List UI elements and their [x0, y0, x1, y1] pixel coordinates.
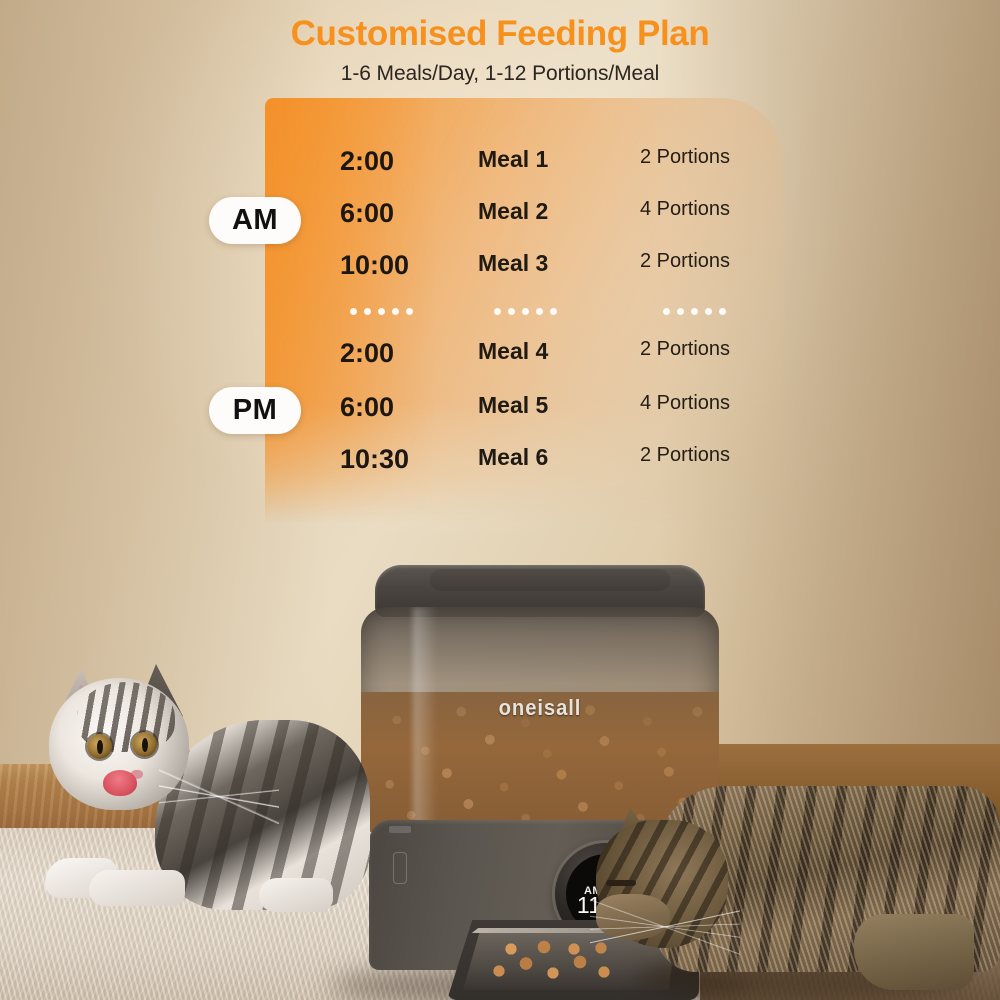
feeding-schedule: 2:00 Meal 1 2 Portions 6:00 Meal 2 4 Por…	[0, 0, 1000, 560]
feeder-lid-inset	[430, 569, 670, 591]
separator-dots-meal	[494, 308, 557, 315]
row-meal: Meal 5	[478, 392, 638, 419]
separator-dots-time	[350, 308, 413, 315]
row-time: 6:00	[340, 198, 470, 229]
cat-left-hind-paw	[259, 878, 333, 912]
row-portions: 2 Portions	[640, 250, 840, 273]
pm-period-badge: PM	[209, 387, 301, 434]
cat-right-whiskers	[590, 882, 740, 970]
feeder-side-latch[interactable]	[393, 852, 407, 884]
row-time: 2:00	[340, 146, 470, 177]
am-period-badge: AM	[209, 197, 301, 244]
schedule-row: 6:00 Meal 5 4 Portions	[0, 392, 1000, 434]
cat-left-pupil-right	[142, 738, 148, 752]
schedule-row: 2:00 Meal 4 2 Portions	[0, 338, 1000, 380]
row-time: 2:00	[340, 338, 470, 369]
row-time: 10:00	[340, 250, 470, 281]
row-meal: Meal 2	[478, 198, 638, 225]
product-scene: Customised Feeding Plan 1-6 Meals/Day, 1…	[0, 0, 1000, 1000]
schedule-row: 6:00 Meal 2 4 Portions	[0, 198, 1000, 240]
row-portions: 2 Portions	[640, 146, 840, 169]
schedule-row: 2:00 Meal 1 2 Portions	[0, 146, 1000, 188]
row-meal: Meal 6	[478, 444, 638, 471]
row-time: 6:00	[340, 392, 470, 423]
row-meal: Meal 4	[478, 338, 638, 365]
row-meal: Meal 1	[478, 146, 638, 173]
cat-left-whiskers	[159, 768, 279, 824]
schedule-row: 10:30 Meal 6 2 Portions	[0, 444, 1000, 486]
brand-logo: oneisall	[375, 695, 704, 721]
row-portions: 2 Portions	[640, 444, 840, 467]
row-portions: 4 Portions	[640, 392, 840, 415]
row-portions: 4 Portions	[640, 198, 840, 221]
cat-left-front-paw-2	[89, 870, 185, 906]
cat-right-leg	[854, 914, 974, 990]
row-time: 10:30	[340, 444, 470, 475]
row-portions: 2 Portions	[640, 338, 840, 361]
cat-right	[596, 786, 1000, 1000]
feeder-vent	[389, 826, 411, 833]
cat-left-tongue	[103, 770, 137, 796]
cat-left	[35, 672, 355, 962]
cat-left-pupil-left	[97, 740, 103, 754]
schedule-separator	[0, 308, 1000, 322]
schedule-row: 10:00 Meal 3 2 Portions	[0, 250, 1000, 292]
separator-dots-portions	[663, 308, 726, 315]
row-meal: Meal 3	[478, 250, 638, 277]
